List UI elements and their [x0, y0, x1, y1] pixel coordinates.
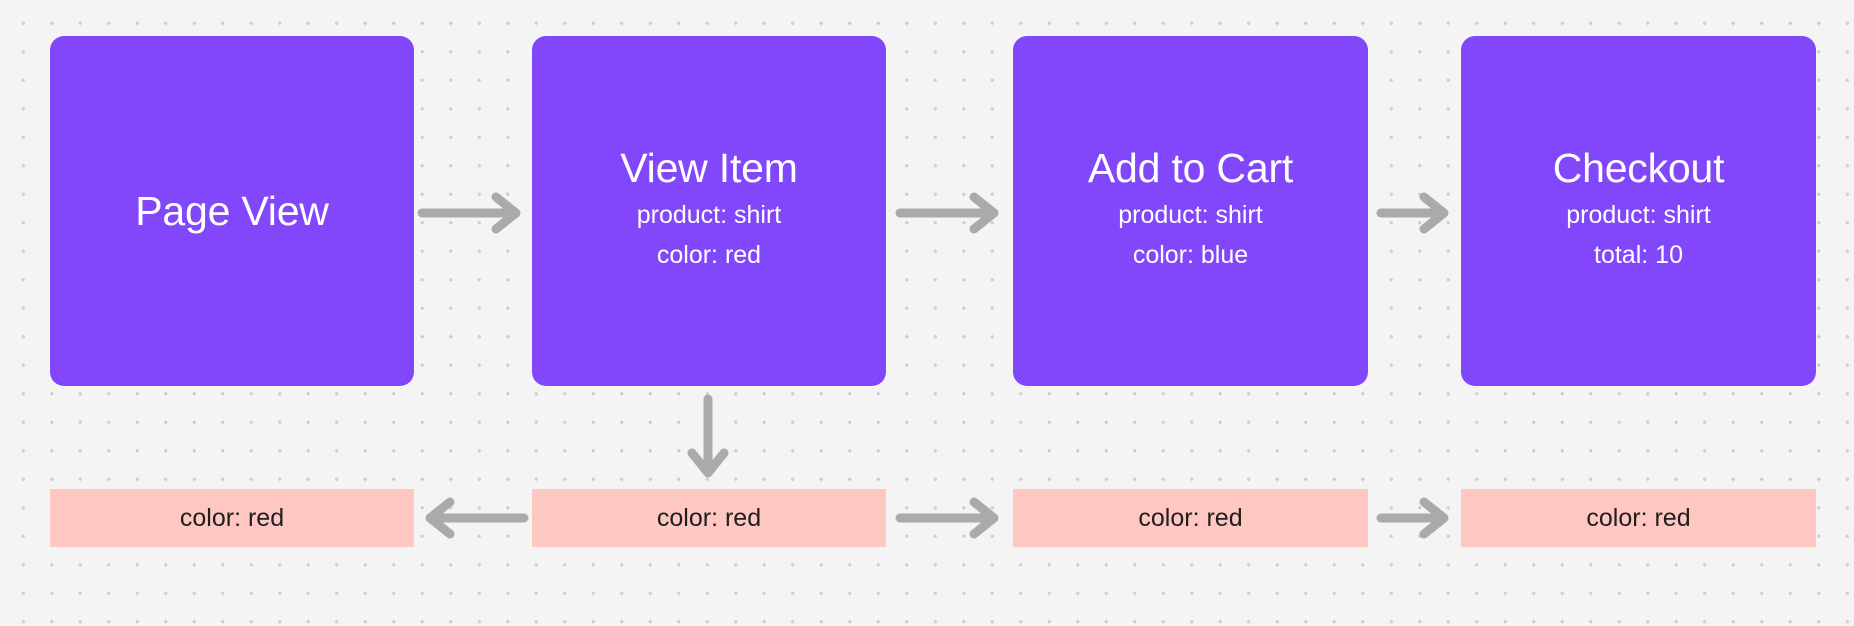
event-node-title: Page View [135, 189, 328, 233]
event-node-checkout[interactable]: Checkout product: shirt total: 10 [1461, 36, 1816, 386]
arrow-right-icon [897, 498, 1005, 538]
property-node-2[interactable]: color: red [532, 489, 886, 547]
event-node-title: Add to Cart [1088, 146, 1293, 190]
flow-canvas[interactable]: Page View View Item product: shirt color… [0, 0, 1854, 626]
arrow-left-icon [419, 498, 527, 538]
property-node-4[interactable]: color: red [1461, 489, 1816, 547]
property-node-3[interactable]: color: red [1013, 489, 1368, 547]
event-node-view-item[interactable]: View Item product: shirt color: red [532, 36, 886, 386]
property-node-label: color: red [1586, 504, 1690, 533]
arrow-right-icon [1378, 193, 1454, 233]
event-node-property: color: red [657, 235, 761, 276]
arrow-right-icon [897, 193, 1005, 233]
event-node-title: Checkout [1553, 146, 1725, 190]
event-node-properties: product: shirt color: blue [1118, 195, 1263, 276]
property-node-1[interactable]: color: red [50, 489, 414, 547]
event-node-properties: product: shirt total: 10 [1566, 195, 1711, 276]
event-node-page-view[interactable]: Page View [50, 36, 414, 386]
arrow-down-icon [688, 396, 728, 484]
event-node-property: product: shirt [1118, 195, 1263, 236]
property-node-label: color: red [657, 504, 761, 533]
property-node-label: color: red [180, 504, 284, 533]
property-node-label: color: red [1138, 504, 1242, 533]
arrow-right-icon [1378, 498, 1454, 538]
event-node-property: total: 10 [1594, 235, 1683, 276]
event-node-add-to-cart[interactable]: Add to Cart product: shirt color: blue [1013, 36, 1368, 386]
event-node-properties: product: shirt color: red [637, 195, 782, 276]
event-node-property: color: blue [1133, 235, 1248, 276]
arrow-right-icon [419, 193, 527, 233]
event-node-title: View Item [620, 146, 797, 190]
event-node-property: product: shirt [1566, 195, 1711, 236]
event-node-property: product: shirt [637, 195, 782, 236]
